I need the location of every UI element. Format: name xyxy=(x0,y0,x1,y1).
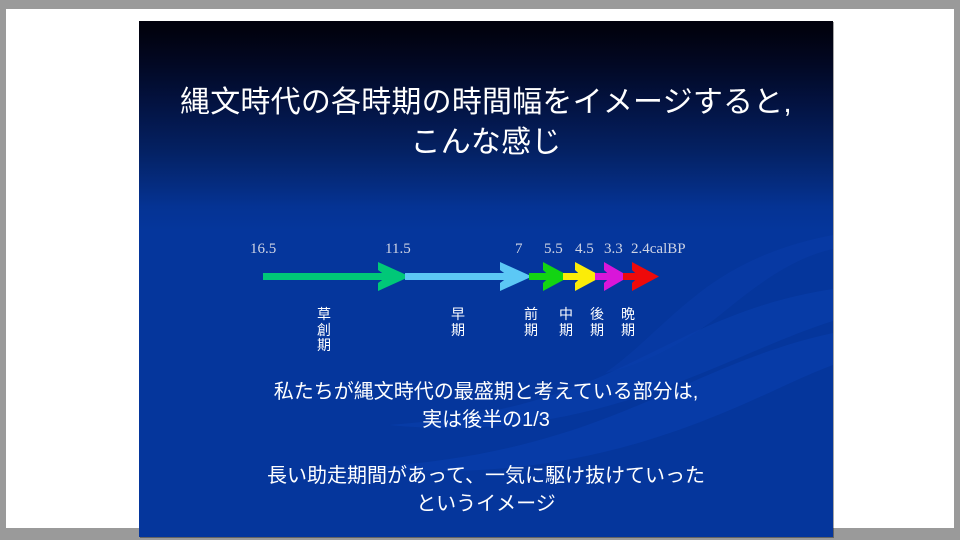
jomon-timeline-diagram: 16.5 11.5 7 5.5 4.5 3.3 2.4calBP xyxy=(139,21,833,537)
period-label-souki: 早 期 xyxy=(444,307,472,338)
arrow-banki xyxy=(623,262,659,291)
slide-viewer: 縄文時代の各時期の時間幅をイメージすると, こんな感じ 16.5 11.5 7 … xyxy=(0,0,960,540)
body-text-primary: 私たちが縄文時代の最盛期と考えている部分は, 実は後半の1/3 xyxy=(139,379,833,434)
period-label-sosoki: 草 創 期 xyxy=(310,307,338,354)
period-label-banki: 晩 期 xyxy=(614,307,642,338)
arrow-souki xyxy=(405,262,532,291)
period-label-kouki: 後 期 xyxy=(583,307,611,338)
body-text-secondary: 長い助走期間があって、一気に駆け抜けていった というイメージ xyxy=(139,463,833,518)
period-label-zenki: 前 期 xyxy=(517,307,545,338)
presentation-slide: 縄文時代の各時期の時間幅をイメージすると, こんな感じ 16.5 11.5 7 … xyxy=(139,21,833,537)
page-sheet: 縄文時代の各時期の時間幅をイメージすると, こんな感じ 16.5 11.5 7 … xyxy=(6,9,954,528)
timeline-arrows xyxy=(139,21,833,537)
period-label-chuki: 中 期 xyxy=(552,307,580,338)
arrow-soso-ki xyxy=(263,262,410,291)
